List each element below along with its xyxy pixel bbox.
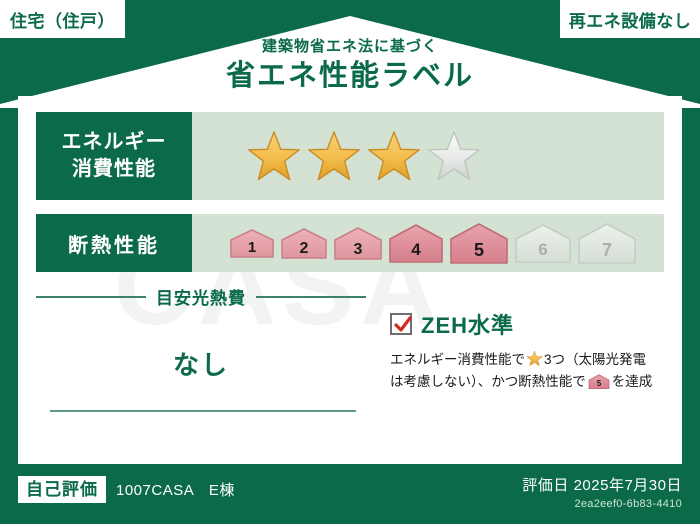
evaluation-id: 2ea2eef0-6b83-4410: [522, 498, 682, 510]
insulation-performance-label-text: 断熱性能: [68, 229, 160, 258]
zeh-desc-part2: 3つ（太陽光発電: [544, 352, 646, 367]
star-icon-filled-1: [246, 128, 302, 184]
energy-performance-label: 住宅（住戸） 再エネ設備なし 建築物省エネ法に基づく 省エネ性能ラベル CASA…: [0, 0, 700, 524]
house-grade-2: 2: [279, 225, 329, 261]
house-grade-6: 6: [513, 221, 573, 265]
energy-performance-stars: [192, 112, 664, 200]
house-grade-inline: 5: [588, 373, 610, 390]
row-energy-performance: エネルギー 消費性能: [36, 112, 664, 200]
evaluation-date: 評価日 2025年7月30日: [522, 474, 682, 495]
label-footer: 自己評価 1007CASA E棟 評価日 2025年7月30日 2ea2eef0…: [0, 464, 700, 524]
star-icon-inline: [526, 350, 543, 367]
footer-left: 自己評価 1007CASA E棟: [18, 476, 235, 503]
energy-performance-label-line2: 消費性能: [72, 156, 156, 183]
zeh-description: エネルギー消費性能で3つ（太陽光発電は考慮しない）、かつ断熱性能で5を達成: [390, 349, 664, 394]
self-assessment-badge: 自己評価: [18, 476, 106, 503]
svg-text:3: 3: [354, 241, 363, 258]
energy-performance-label-line1: エネルギー: [62, 129, 167, 156]
star-icon-filled-3: [366, 128, 422, 184]
building-name: 1007CASA E棟: [116, 479, 235, 500]
tag-renewable-equipment: 再エネ設備なし: [560, 0, 700, 38]
utility-cost-title: 目安光熱費: [156, 284, 246, 309]
zeh-desc-part1: エネルギー消費性能で: [390, 352, 525, 367]
zeh-checkbox[interactable]: [390, 313, 412, 335]
insulation-performance-label: 断熱性能: [36, 214, 192, 272]
zeh-header: ZEH水準: [390, 308, 664, 340]
label-card: CASA エネルギー 消費性能: [18, 96, 682, 464]
utility-cost-value: なし: [36, 345, 366, 382]
house-grade-1: 1: [228, 226, 276, 260]
zeh-desc-part3: は考慮しない）、かつ断熱性能で: [390, 374, 586, 389]
zeh-desc-part4: を達成: [612, 374, 653, 389]
row-insulation-performance: 断熱性能 1 2 3: [36, 214, 664, 272]
svg-text:6: 6: [538, 240, 547, 259]
zeh-title: ZEH水準: [421, 308, 514, 340]
zeh-panel: ZEH水準 エネルギー消費性能で3つ（太陽光発電は考慮しない）、かつ断熱性能で5…: [366, 282, 664, 450]
tag-renewable-equipment-label: 再エネ設備なし: [569, 7, 692, 32]
tag-housing-type: 住宅（住戸）: [0, 0, 125, 38]
check-icon: [393, 315, 413, 335]
svg-text:7: 7: [602, 240, 612, 260]
star-icon-filled-2: [306, 128, 362, 184]
footer-right: 評価日 2025年7月30日 2ea2eef0-6b83-4410: [522, 474, 682, 510]
utility-cost-divider: [50, 410, 356, 412]
svg-text:1: 1: [248, 239, 256, 256]
insulation-grade-scale: 1 2 3 4: [192, 214, 664, 272]
star-icon-empty-4: [426, 128, 482, 184]
lower-section: 目安光熱費 なし ZEH水準 エネルギー消費性能で3つ（太陽光発電は考慮しな: [36, 282, 664, 450]
house-grade-5: 5: [448, 220, 510, 266]
rule-left: [36, 296, 146, 298]
rule-right: [256, 296, 366, 298]
utility-cost-header: 目安光熱費: [36, 284, 366, 309]
svg-text:4: 4: [411, 240, 421, 259]
house-grade-7: 7: [576, 220, 638, 266]
svg-text:5: 5: [474, 240, 484, 260]
energy-performance-label: エネルギー 消費性能: [36, 112, 192, 200]
svg-text:2: 2: [300, 240, 309, 257]
tag-housing-type-label: 住宅（住戸）: [10, 7, 115, 32]
svg-text:5: 5: [597, 379, 602, 388]
utility-cost-panel: 目安光熱費 なし: [36, 282, 366, 450]
house-grade-4: 4: [387, 221, 445, 265]
house-grade-3: 3: [332, 224, 384, 262]
